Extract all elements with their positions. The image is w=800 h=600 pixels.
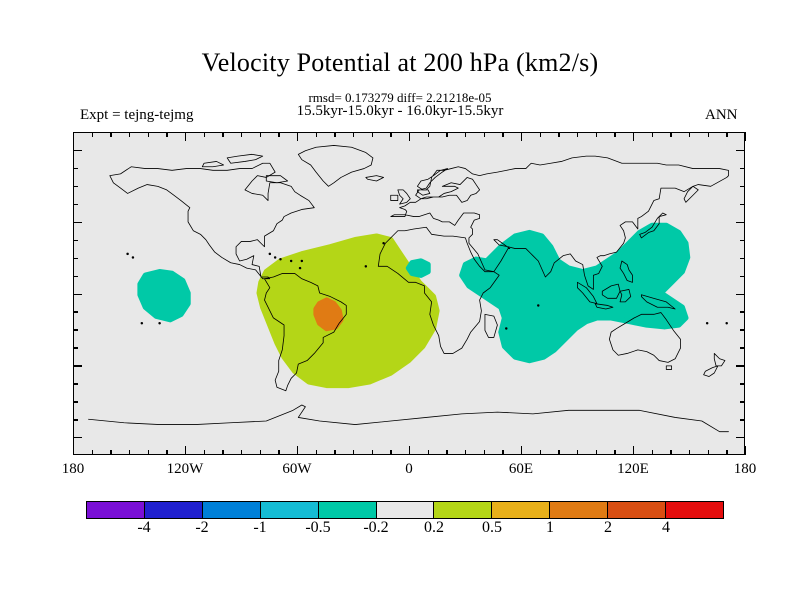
- y-axis-tick: [73, 329, 78, 330]
- x-axis-tick: [110, 450, 111, 455]
- colorbar[interactable]: [86, 501, 724, 519]
- coastline: [227, 154, 263, 163]
- x-axis-tick: [148, 450, 149, 455]
- island-marker: [274, 256, 276, 258]
- x-axis-tick: [166, 132, 167, 137]
- x-axis-tick: [390, 132, 391, 137]
- x-axis-tick: [353, 450, 354, 455]
- x-axis-tick: [278, 132, 279, 137]
- x-axis-tick: [502, 132, 503, 137]
- x-axis-tick: [596, 132, 597, 137]
- x-axis-label: 60E: [486, 461, 556, 478]
- x-axis-tick: [185, 446, 186, 455]
- x-axis-tick: [222, 450, 223, 455]
- x-axis-tick: [484, 132, 485, 137]
- y-axis-tick: [73, 258, 78, 259]
- colorbar-segment: [145, 502, 203, 518]
- x-axis-tick: [110, 132, 111, 137]
- x-axis-tick: [670, 132, 671, 137]
- x-axis-tick: [428, 132, 429, 137]
- contour-fill-negative-epac: [140, 272, 188, 320]
- x-axis-label: 120E: [598, 461, 668, 478]
- x-axis-tick: [129, 450, 130, 455]
- colorbar-tick-label: 0.2: [404, 519, 464, 537]
- x-axis-tick: [446, 450, 447, 455]
- y-axis-tick: [73, 186, 78, 187]
- y-axis-tick: [73, 419, 78, 420]
- island-marker: [299, 267, 301, 269]
- y-axis-tick: [740, 186, 745, 187]
- x-axis-tick: [689, 450, 690, 455]
- x-axis-tick: [726, 132, 727, 137]
- coastline: [684, 186, 698, 202]
- y-axis-tick: [73, 276, 78, 277]
- x-axis-tick: [204, 450, 205, 455]
- x-axis-tick: [372, 132, 373, 137]
- x-axis-tick: [484, 450, 485, 455]
- world-map: [74, 133, 743, 453]
- colorbar-tick-label: -1: [230, 519, 290, 537]
- y-axis-tick: [740, 311, 745, 312]
- x-axis-tick: [708, 450, 709, 455]
- x-axis-tick: [297, 132, 298, 141]
- island-marker: [141, 322, 143, 324]
- x-axis-tick: [614, 450, 615, 455]
- y-axis-tick: [73, 222, 82, 223]
- x-axis-tick: [558, 132, 559, 137]
- x-axis-label: 120W: [150, 461, 220, 478]
- coastline: [485, 314, 497, 337]
- colorbar-segment: [492, 502, 550, 518]
- x-axis-tick: [297, 446, 298, 455]
- x-axis-tick: [148, 132, 149, 137]
- y-axis-tick: [73, 150, 82, 151]
- coastline: [366, 176, 384, 181]
- x-axis-label: 180: [38, 461, 108, 478]
- colorbar-tick-label: -4: [114, 519, 174, 537]
- x-axis-tick: [73, 132, 74, 141]
- y-axis-tick: [736, 437, 745, 438]
- x-axis-label: 60W: [262, 461, 332, 478]
- x-axis-tick: [465, 132, 466, 137]
- island-marker: [279, 258, 281, 260]
- x-axis-tick: [185, 132, 186, 141]
- coastline: [417, 190, 429, 195]
- x-axis-tick: [577, 450, 578, 455]
- x-axis-tick: [222, 132, 223, 137]
- colorbar-segment: [319, 502, 377, 518]
- colorbar-segment: [377, 502, 435, 518]
- contour-fill-negative-indopac: [462, 225, 688, 360]
- x-axis-tick: [745, 446, 746, 455]
- island-marker: [382, 242, 384, 244]
- x-axis-tick: [409, 132, 410, 141]
- x-axis-tick: [614, 132, 615, 137]
- x-axis-tick: [652, 450, 653, 455]
- x-axis-tick: [465, 450, 466, 455]
- island-marker: [365, 265, 367, 267]
- x-axis-tick: [260, 450, 261, 455]
- colorbar-segment: [550, 502, 608, 518]
- x-axis-label: 180: [710, 461, 780, 478]
- x-axis-tick: [353, 132, 354, 137]
- x-axis-tick: [726, 450, 727, 455]
- x-axis-tick: [260, 132, 261, 137]
- colorbar-segment: [203, 502, 261, 518]
- x-axis-tick: [129, 132, 130, 137]
- y-axis-tick: [740, 204, 745, 205]
- colorbar-tick-label: -0.5: [288, 519, 348, 537]
- island-marker: [301, 260, 303, 262]
- x-axis-tick: [540, 132, 541, 137]
- y-axis-tick: [740, 276, 745, 277]
- y-axis-tick: [73, 311, 78, 312]
- y-axis-tick: [740, 419, 745, 420]
- x-axis-tick: [278, 450, 279, 455]
- x-axis-tick: [652, 132, 653, 137]
- map-canvas: [73, 132, 745, 455]
- island-marker: [706, 322, 708, 324]
- y-axis-tick: [736, 294, 745, 295]
- map-plot-area: [73, 132, 745, 455]
- x-axis-tick: [521, 132, 522, 141]
- x-axis-tick: [241, 132, 242, 137]
- colorbar-tick-label: 4: [636, 519, 696, 537]
- colorbar-segment: [434, 502, 492, 518]
- y-axis-tick: [740, 347, 745, 348]
- island-marker: [290, 260, 292, 262]
- y-axis-tick: [73, 204, 78, 205]
- x-axis-tick: [73, 446, 74, 455]
- coastline: [89, 405, 729, 432]
- island-marker: [132, 256, 134, 258]
- x-axis-tick: [540, 450, 541, 455]
- x-axis-tick: [633, 446, 634, 455]
- x-axis-tick: [596, 450, 597, 455]
- contour-fill-negative-atl: [409, 261, 429, 275]
- coastline: [266, 176, 287, 183]
- y-axis-tick: [740, 168, 745, 169]
- x-axis-tick: [577, 132, 578, 137]
- island-marker: [725, 322, 727, 324]
- y-axis-tick: [740, 258, 745, 259]
- y-axis-tick: [73, 240, 78, 241]
- figure-canvas: Velocity Potential at 200 hPa (km2/s) rm…: [0, 0, 800, 600]
- island-marker: [126, 253, 128, 255]
- x-axis-tick: [708, 132, 709, 137]
- y-axis-tick: [73, 401, 78, 402]
- y-axis-tick: [736, 150, 745, 151]
- y-axis-tick: [73, 365, 82, 366]
- x-axis-tick: [428, 450, 429, 455]
- x-axis-tick: [316, 450, 317, 455]
- x-axis-tick: [558, 450, 559, 455]
- colorbar-tick-label: -0.2: [346, 519, 406, 537]
- island-marker: [505, 327, 507, 329]
- y-axis-tick: [740, 401, 745, 402]
- x-axis-tick: [372, 450, 373, 455]
- y-axis-tick: [736, 222, 745, 223]
- coastline: [391, 195, 398, 200]
- x-axis-tick: [670, 450, 671, 455]
- x-axis-tick: [334, 450, 335, 455]
- island-marker: [537, 304, 539, 306]
- y-axis-tick: [73, 294, 82, 295]
- x-axis-tick: [409, 446, 410, 455]
- x-axis-tick: [502, 450, 503, 455]
- coastline: [704, 366, 718, 377]
- y-axis-tick: [73, 168, 78, 169]
- page-title: Velocity Potential at 200 hPa (km2/s): [0, 48, 800, 78]
- y-axis-tick: [740, 383, 745, 384]
- y-axis-tick: [73, 383, 78, 384]
- colorbar-tick-label: -2: [172, 519, 232, 537]
- x-axis-tick: [633, 132, 634, 141]
- x-axis-tick: [689, 132, 690, 137]
- colorbar-segment: [666, 502, 723, 518]
- coastline: [398, 190, 410, 204]
- colorbar-segment: [87, 502, 145, 518]
- experiment-label: Expt = tejng-tejmg: [80, 107, 193, 124]
- colorbar-tick-label: 1: [520, 519, 580, 537]
- coastline: [714, 353, 725, 365]
- y-axis-tick: [740, 240, 745, 241]
- colorbar-tick-label: 0.5: [462, 519, 522, 537]
- x-axis-label: 0: [374, 461, 444, 478]
- season-label: ANN: [705, 107, 738, 124]
- coastline: [666, 366, 671, 370]
- y-axis-tick: [73, 437, 82, 438]
- x-axis-tick: [92, 450, 93, 455]
- x-axis-tick: [241, 450, 242, 455]
- x-axis-tick: [334, 132, 335, 137]
- x-axis-tick: [92, 132, 93, 137]
- x-axis-tick: [745, 132, 746, 141]
- x-axis-tick: [446, 132, 447, 137]
- contour-fill-positive: [259, 236, 437, 385]
- colorbar-segment: [261, 502, 319, 518]
- coastline: [298, 145, 373, 186]
- x-axis-tick: [521, 446, 522, 455]
- coastline: [202, 161, 223, 166]
- y-axis-tick: [740, 329, 745, 330]
- x-axis-tick: [166, 450, 167, 455]
- x-axis-tick: [316, 132, 317, 137]
- x-axis-tick: [390, 450, 391, 455]
- contour-fill-strong-positive: [316, 300, 341, 328]
- colorbar-segment: [608, 502, 666, 518]
- x-axis-tick: [204, 132, 205, 137]
- island-marker: [269, 253, 271, 255]
- island-marker: [158, 322, 160, 324]
- colorbar-tick-label: 2: [578, 519, 638, 537]
- y-axis-tick: [73, 347, 78, 348]
- y-axis-tick: [736, 365, 745, 366]
